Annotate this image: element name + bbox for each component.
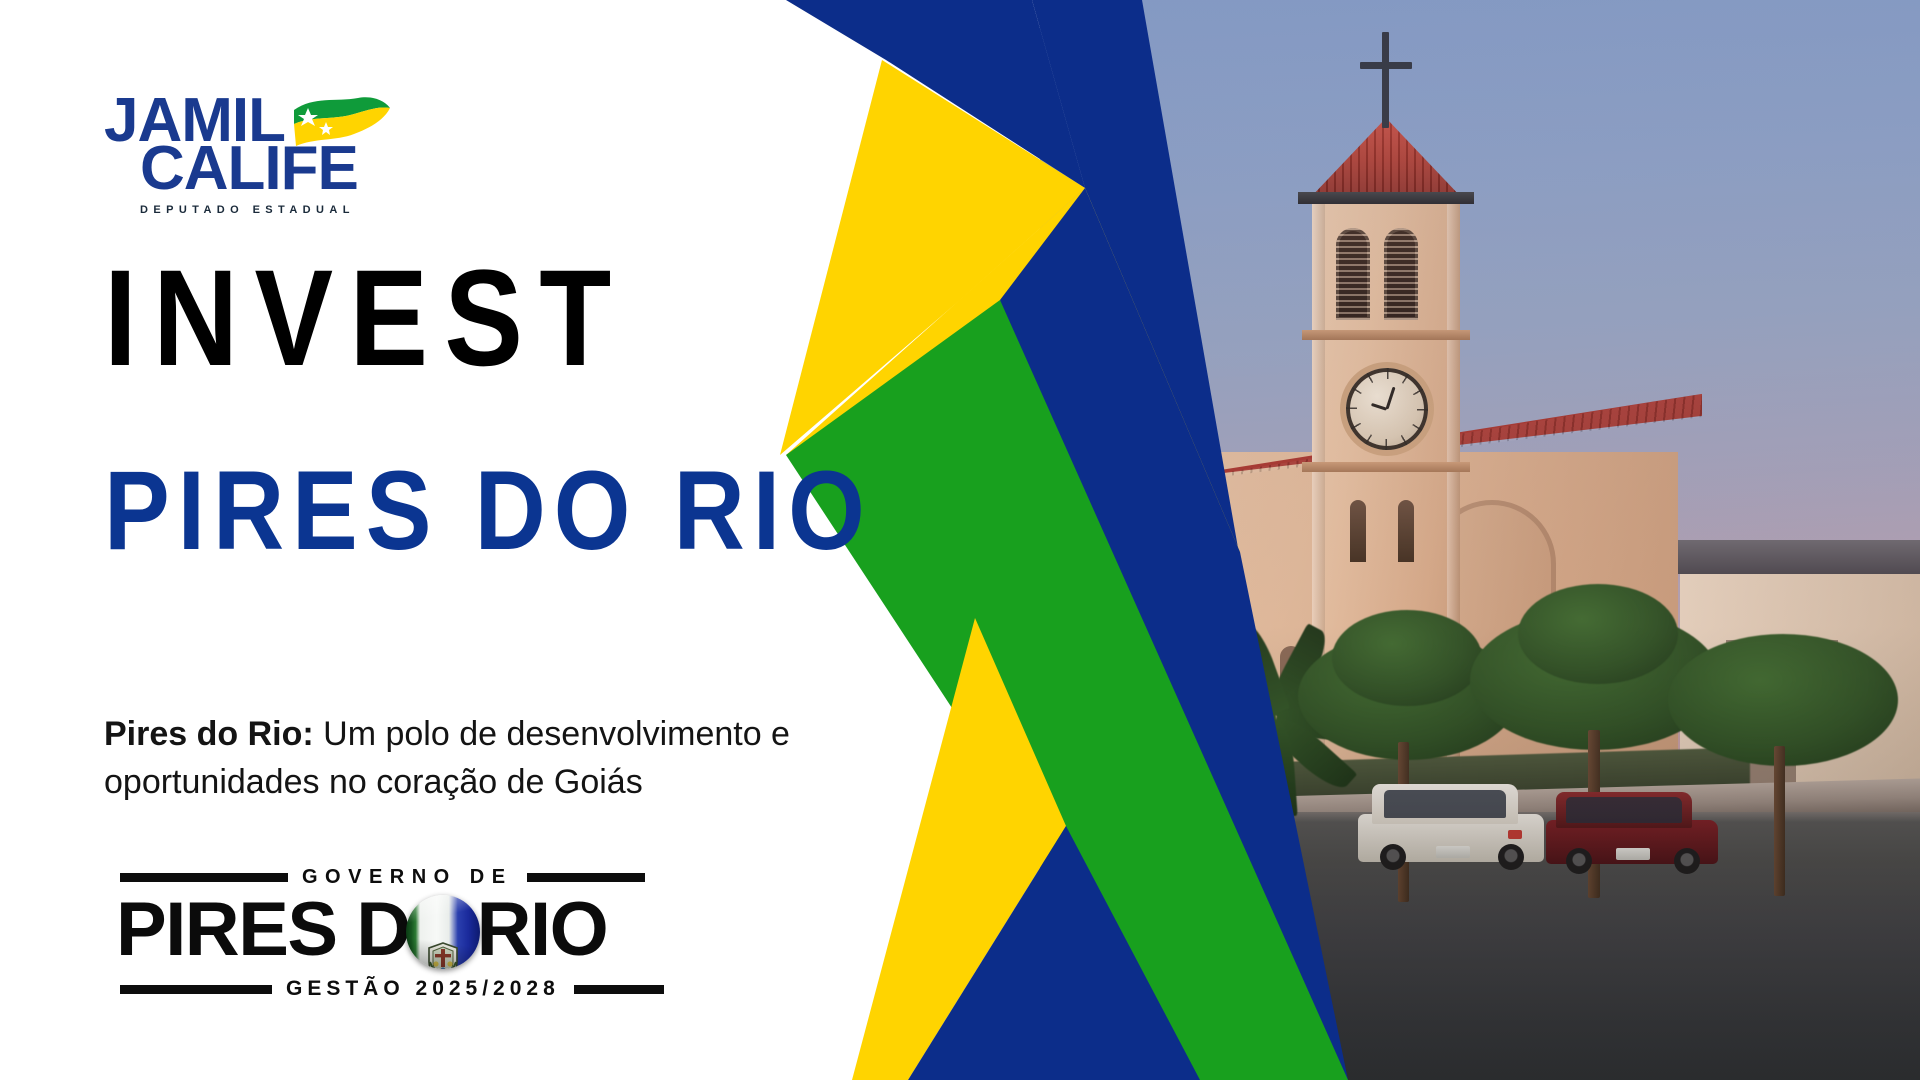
gov-logo-wordmark: PIRES D [116, 888, 716, 972]
governo-de-pires-do-rio-logo[interactable]: GOVERNO DE PIRES D [120, 858, 710, 1006]
rule-left [120, 985, 272, 994]
seal-gloss [406, 895, 480, 969]
pires-do-rio-flag-seal-icon [406, 895, 480, 969]
background-house-roof [1666, 540, 1920, 574]
brazil-flag-wave-icon [292, 94, 392, 156]
belfry-louvre-window [1336, 228, 1370, 320]
parked-dark-red-car [1546, 790, 1718, 876]
headline-invest: INVEST [104, 250, 628, 387]
lead-paragraph: Pires do Rio: Um polo de desenvolvimento… [104, 710, 934, 807]
cross-icon [1382, 32, 1389, 128]
lead-bold-prefix: Pires do Rio: [104, 715, 314, 753]
gov-wordmark-after-seal: RIO [477, 888, 608, 972]
tower-clock-ticks [1346, 368, 1428, 450]
tower-slit-window [1350, 500, 1366, 562]
rule-right [574, 985, 664, 994]
banner-stage: JAMIL CALIFE DEPUTADO ESTADUAL INVEST PI… [0, 0, 1920, 1080]
parked-white-car [1358, 782, 1544, 874]
headline-city: PIRES DO RIO [104, 455, 873, 567]
gov-logo-bottom-text: GESTÃO 2025/2028 [286, 977, 560, 1001]
content-column: JAMIL CALIFE DEPUTADO ESTADUAL INVEST PI… [0, 0, 1040, 1080]
tower-cornice [1302, 462, 1470, 472]
rule-left [120, 873, 288, 882]
tower-slit-window [1398, 500, 1414, 562]
belfry-louvre-window [1384, 228, 1418, 320]
gov-logo-top-text: GOVERNO DE [302, 866, 513, 889]
tower-roof-cornice [1298, 192, 1474, 204]
jamil-calife-logo[interactable]: JAMIL CALIFE DEPUTADO ESTADUAL [104, 92, 404, 204]
pires-do-rio-church-street-photo [1040, 0, 1920, 1080]
palm-tree [1216, 660, 1225, 810]
gov-wordmark-before-seal: PIRES D [116, 888, 410, 972]
rule-right [527, 873, 645, 882]
logo-subtitle: DEPUTADO ESTADUAL [140, 204, 355, 216]
tower-cornice [1302, 330, 1470, 340]
gov-logo-bottom-row: GESTÃO 2025/2028 [120, 976, 710, 1002]
cross-icon [1360, 62, 1412, 69]
